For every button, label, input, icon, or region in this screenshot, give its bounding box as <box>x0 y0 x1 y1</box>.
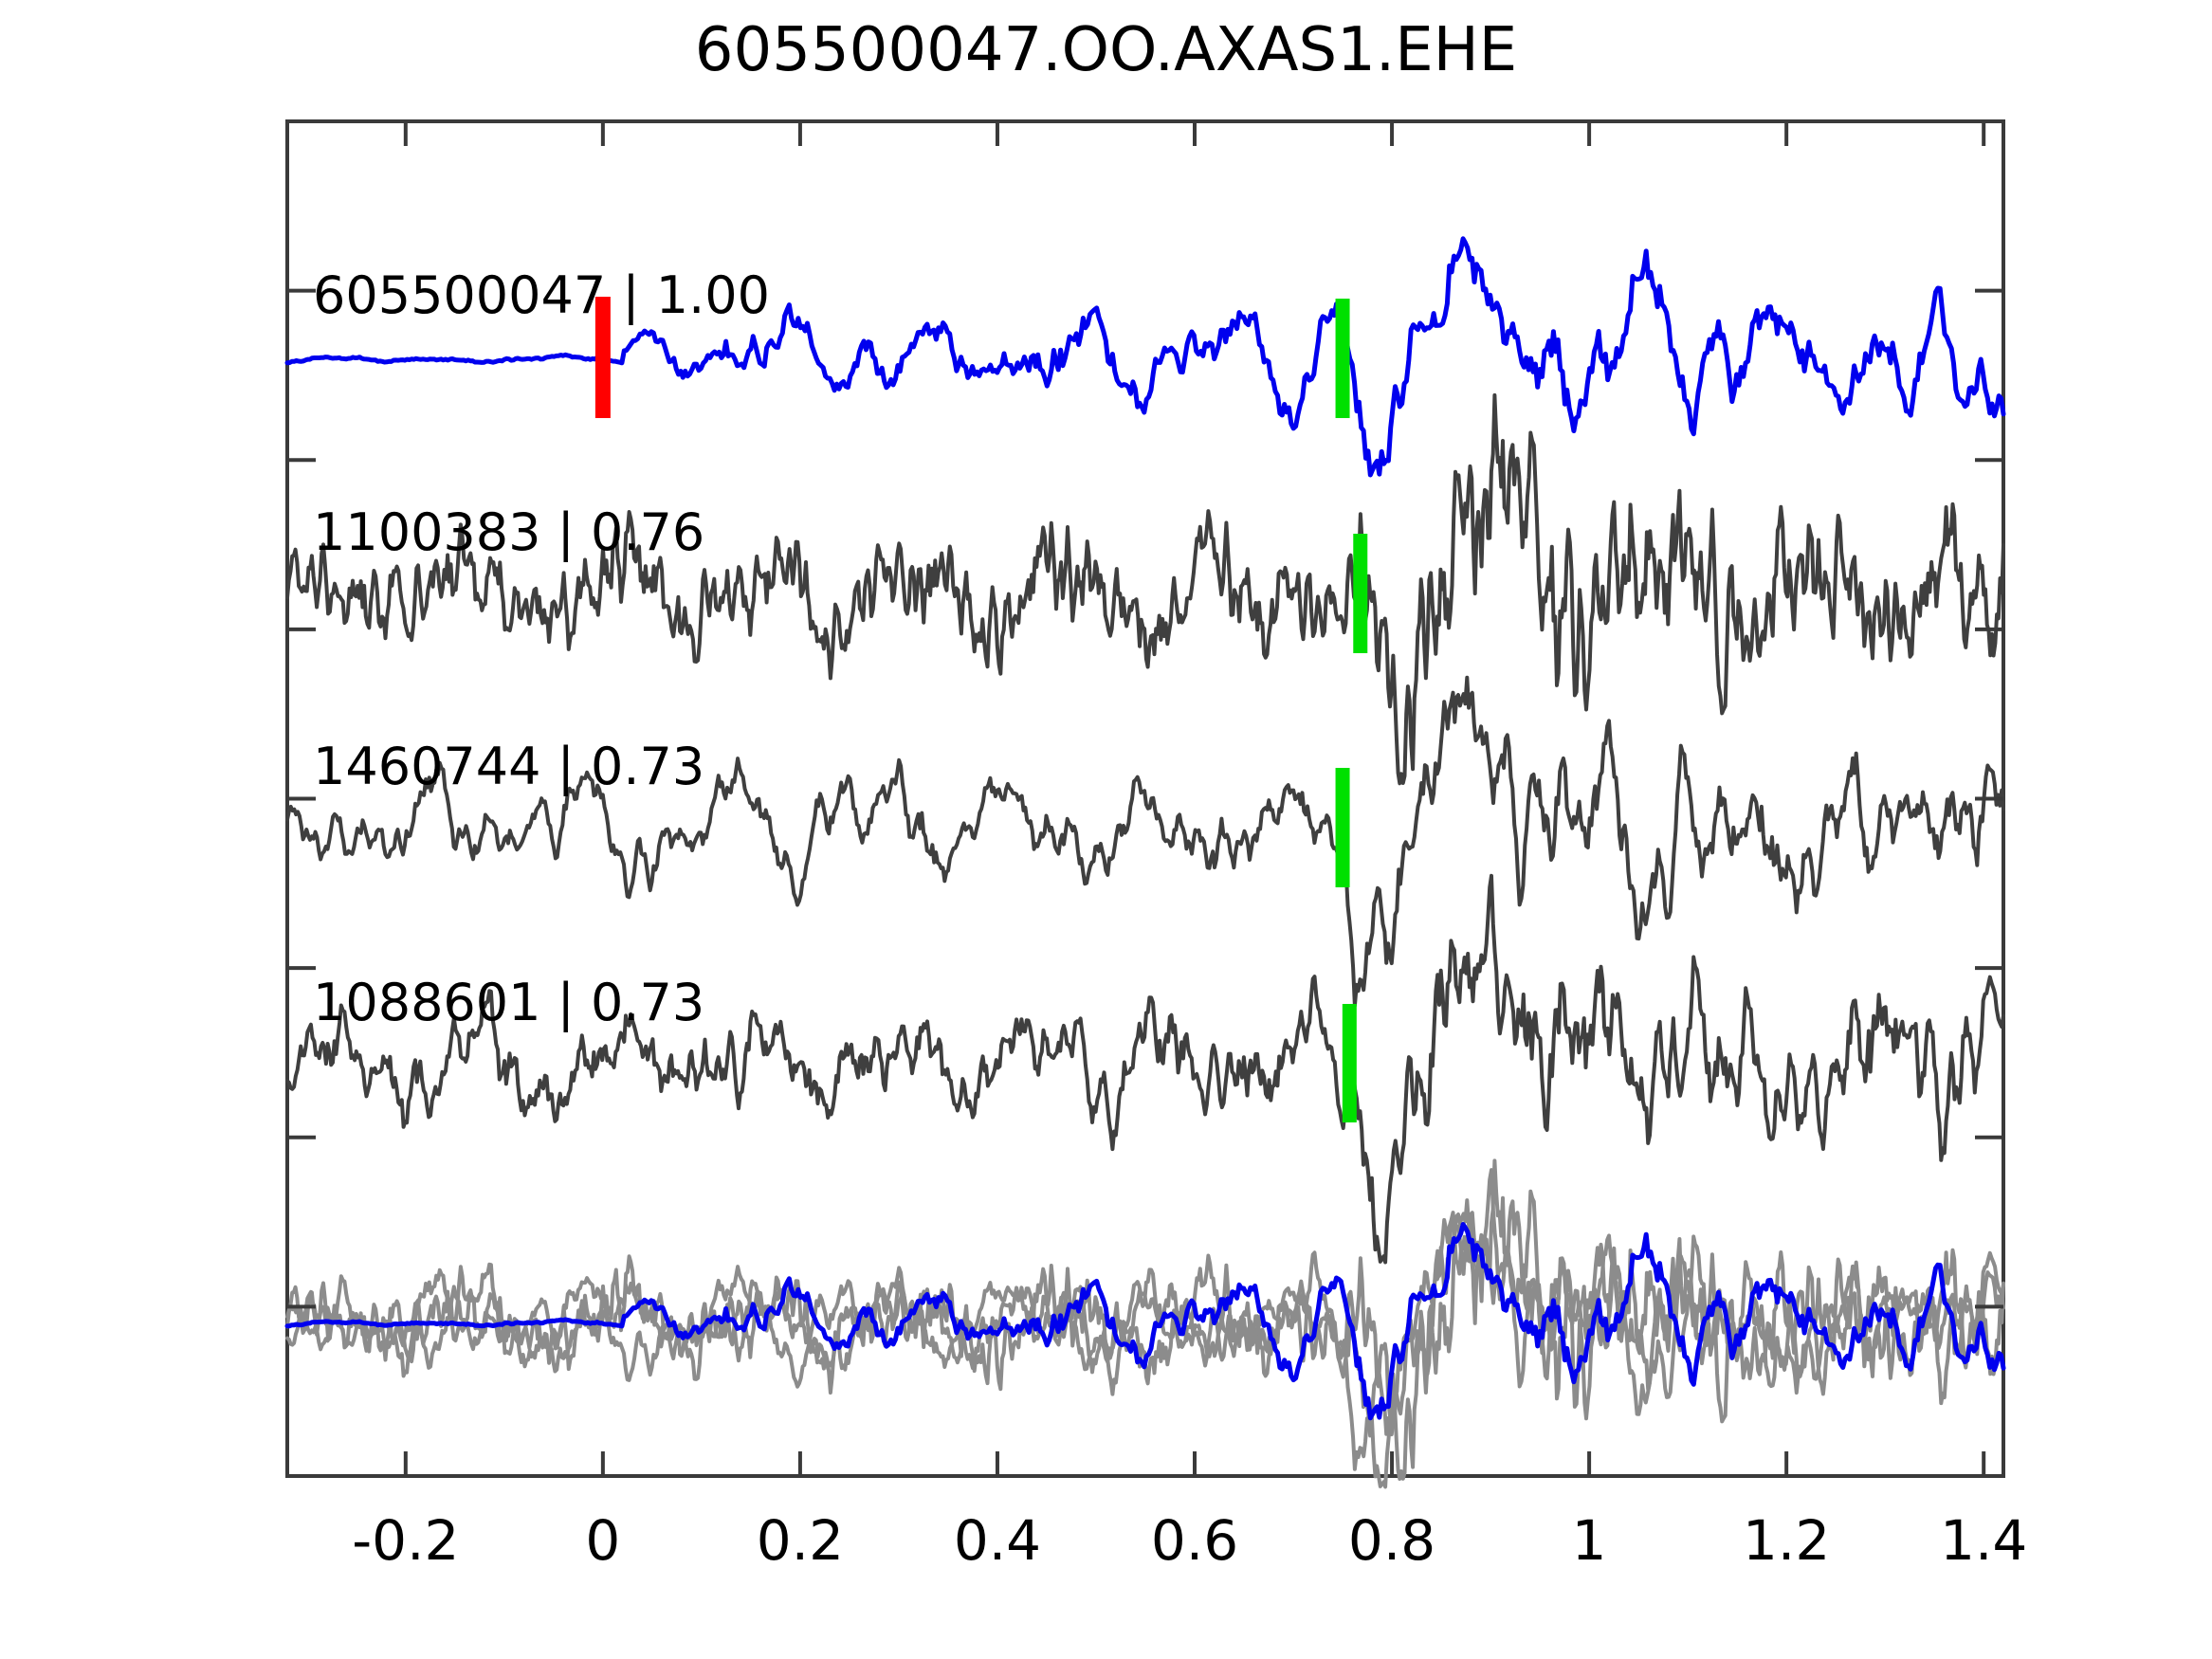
x-tick-label: 1 <box>1572 1508 1607 1573</box>
waveform-trace-1088601 <box>287 876 2003 1263</box>
x-tick-label: 1.2 <box>1743 1508 1830 1573</box>
trace-label-605500047: 605500047 | 1.00 <box>313 265 770 325</box>
trace-label-1460744: 1460744 | 0.73 <box>313 737 704 796</box>
waveform-traces <box>287 239 2003 1487</box>
trace-label-1088601: 1088601 | 0.73 <box>313 973 704 1032</box>
x-tick-label: 0.2 <box>757 1508 844 1573</box>
waveform-trace-1100383 <box>287 395 2003 783</box>
x-tick-label: 0.4 <box>954 1508 1041 1573</box>
x-tick-label: -0.2 <box>352 1508 459 1573</box>
pick-markers <box>603 297 1361 1122</box>
x-tick-label: 0.6 <box>1151 1508 1238 1573</box>
x-tick-label: 0.8 <box>1348 1508 1435 1573</box>
waveform-plot: 605500047 | 1.001100383 | 0.761460744 | … <box>0 0 2212 1659</box>
waveform-trace-1460744 <box>287 678 2003 1006</box>
trace-labels: 605500047 | 1.001100383 | 0.761460744 | … <box>313 265 770 1032</box>
chart-page: 605500047.OO.AXAS1.EHE 605500047 | 1.001… <box>0 0 2212 1659</box>
x-tick-label: 0 <box>585 1508 620 1573</box>
x-tick-label: 1.4 <box>1940 1508 2027 1573</box>
trace-label-1100383: 1100383 | 0.76 <box>313 502 704 562</box>
